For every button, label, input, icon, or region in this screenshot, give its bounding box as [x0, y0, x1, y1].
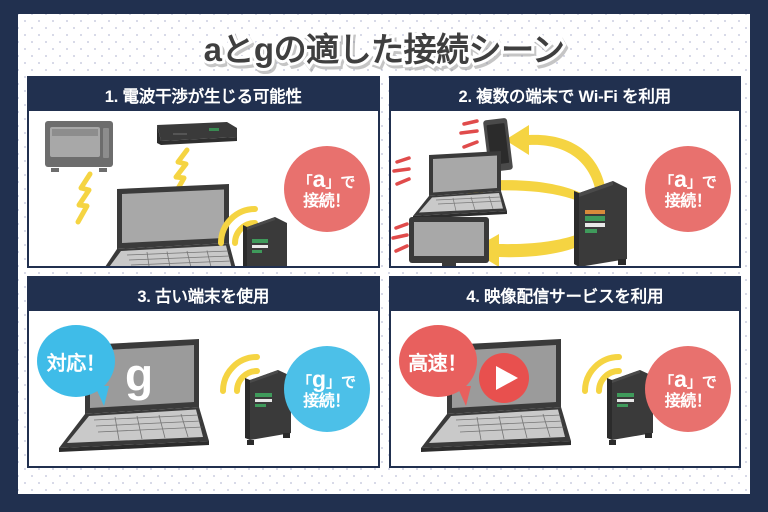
panel-2-badge-line1: 「a」で — [659, 166, 717, 193]
panel-4-badge-line2: 接続！ — [665, 393, 712, 412]
svg-text:g: g — [125, 349, 153, 401]
panel-4-bubble: 高速！ — [399, 325, 477, 397]
panel-2-badge-line2: 接続！ — [665, 193, 712, 212]
panel-1-badge-line1: 「a」で — [298, 166, 356, 193]
panel-3-bubble: 対応！ — [37, 325, 115, 397]
play-button-icon — [479, 353, 529, 403]
activity-dashes-icon — [391, 221, 411, 259]
panel-2-title: 2. 複数の端末で Wi-Fi を利用 — [391, 78, 740, 111]
panel-4-badge: 「a」で 接続！ — [645, 346, 731, 432]
panel-4: 4. 映像配信サービスを利用 — [389, 276, 742, 468]
dotted-canvas: aとgの適した接続シーン 1. 電波干渉が生じる可能性 — [18, 14, 750, 494]
panel-1-badge: 「a」で 接続！ — [284, 146, 370, 232]
microwave-oven-icon — [43, 119, 115, 173]
activity-dashes-icon — [457, 117, 483, 157]
panel-3-title: 3. 古い端末を使用 — [29, 278, 378, 311]
router-icon — [239, 211, 291, 268]
infographic-root: aとgの適した接続シーン 1. 電波干渉が生じる可能性 — [0, 0, 768, 512]
av-device-icon — [153, 119, 239, 149]
panel-2-body: 「a」で 接続！ — [391, 111, 740, 266]
monitor-icon — [405, 215, 497, 268]
panel-3-badge-line2: 接続！ — [303, 393, 350, 412]
panel-4-body: 高速！ 「a」で 接続！ — [391, 311, 740, 466]
panel-grid: 1. 電波干渉が生じる可能性 — [27, 76, 741, 468]
panel-2: 2. 複数の端末で Wi-Fi を利用 — [389, 76, 742, 268]
panel-3-badge-line1: 「g」で — [297, 366, 356, 393]
panel-3-bubble-label: 対応！ — [47, 347, 106, 376]
panel-4-bubble-label: 高速！ — [408, 347, 467, 376]
panel-4-badge-line1: 「a」で — [659, 366, 717, 393]
router-icon — [569, 173, 633, 268]
panel-1-badge-line2: 接続！ — [303, 193, 350, 212]
laptop-icon — [405, 149, 511, 221]
page-title: aとgの適した接続シーン — [204, 23, 565, 71]
panel-2-badge: 「a」で 接続！ — [645, 146, 731, 232]
panel-3: 3. 古い端末を使用 g — [27, 276, 380, 468]
panel-3-body: g — [29, 311, 378, 466]
panel-1: 1. 電波干渉が生じる可能性 — [27, 76, 380, 268]
panel-1-title: 1. 電波干渉が生じる可能性 — [29, 78, 378, 111]
activity-dashes-icon — [391, 155, 413, 193]
panel-3-badge: 「g」で 接続！ — [284, 346, 370, 432]
panel-1-body: 「a」で 接続！ — [29, 111, 378, 266]
panel-4-title: 4. 映像配信サービスを利用 — [391, 278, 740, 311]
title-area: aとgの適した接続シーン — [27, 18, 741, 76]
